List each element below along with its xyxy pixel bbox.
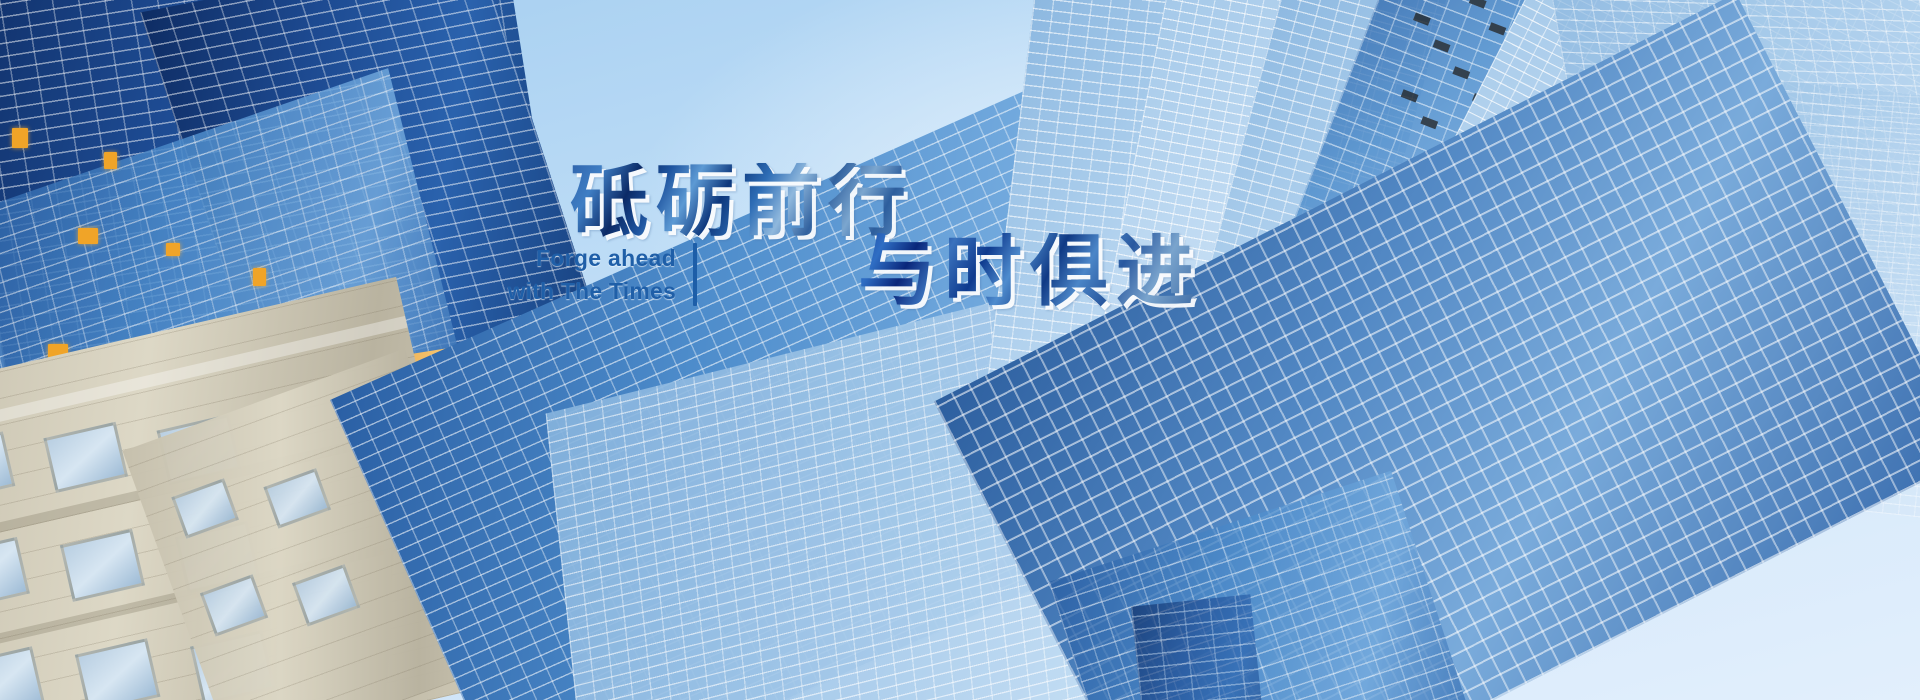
banner-text-block: 砥砺前行 Forge ahead with The Times 与时俱进 [0,0,1920,700]
subtitle-block: Forge ahead with The Times [480,242,676,307]
corporate-banner: 砥砺前行 Forge ahead with The Times 与时俱进 [0,0,1920,700]
headline-secondary: 与时俱进 [858,233,1202,311]
subtitle-line-2: with The Times [480,275,676,308]
subtitle-line-1: Forge ahead [480,242,676,275]
vertical-divider [693,243,697,306]
